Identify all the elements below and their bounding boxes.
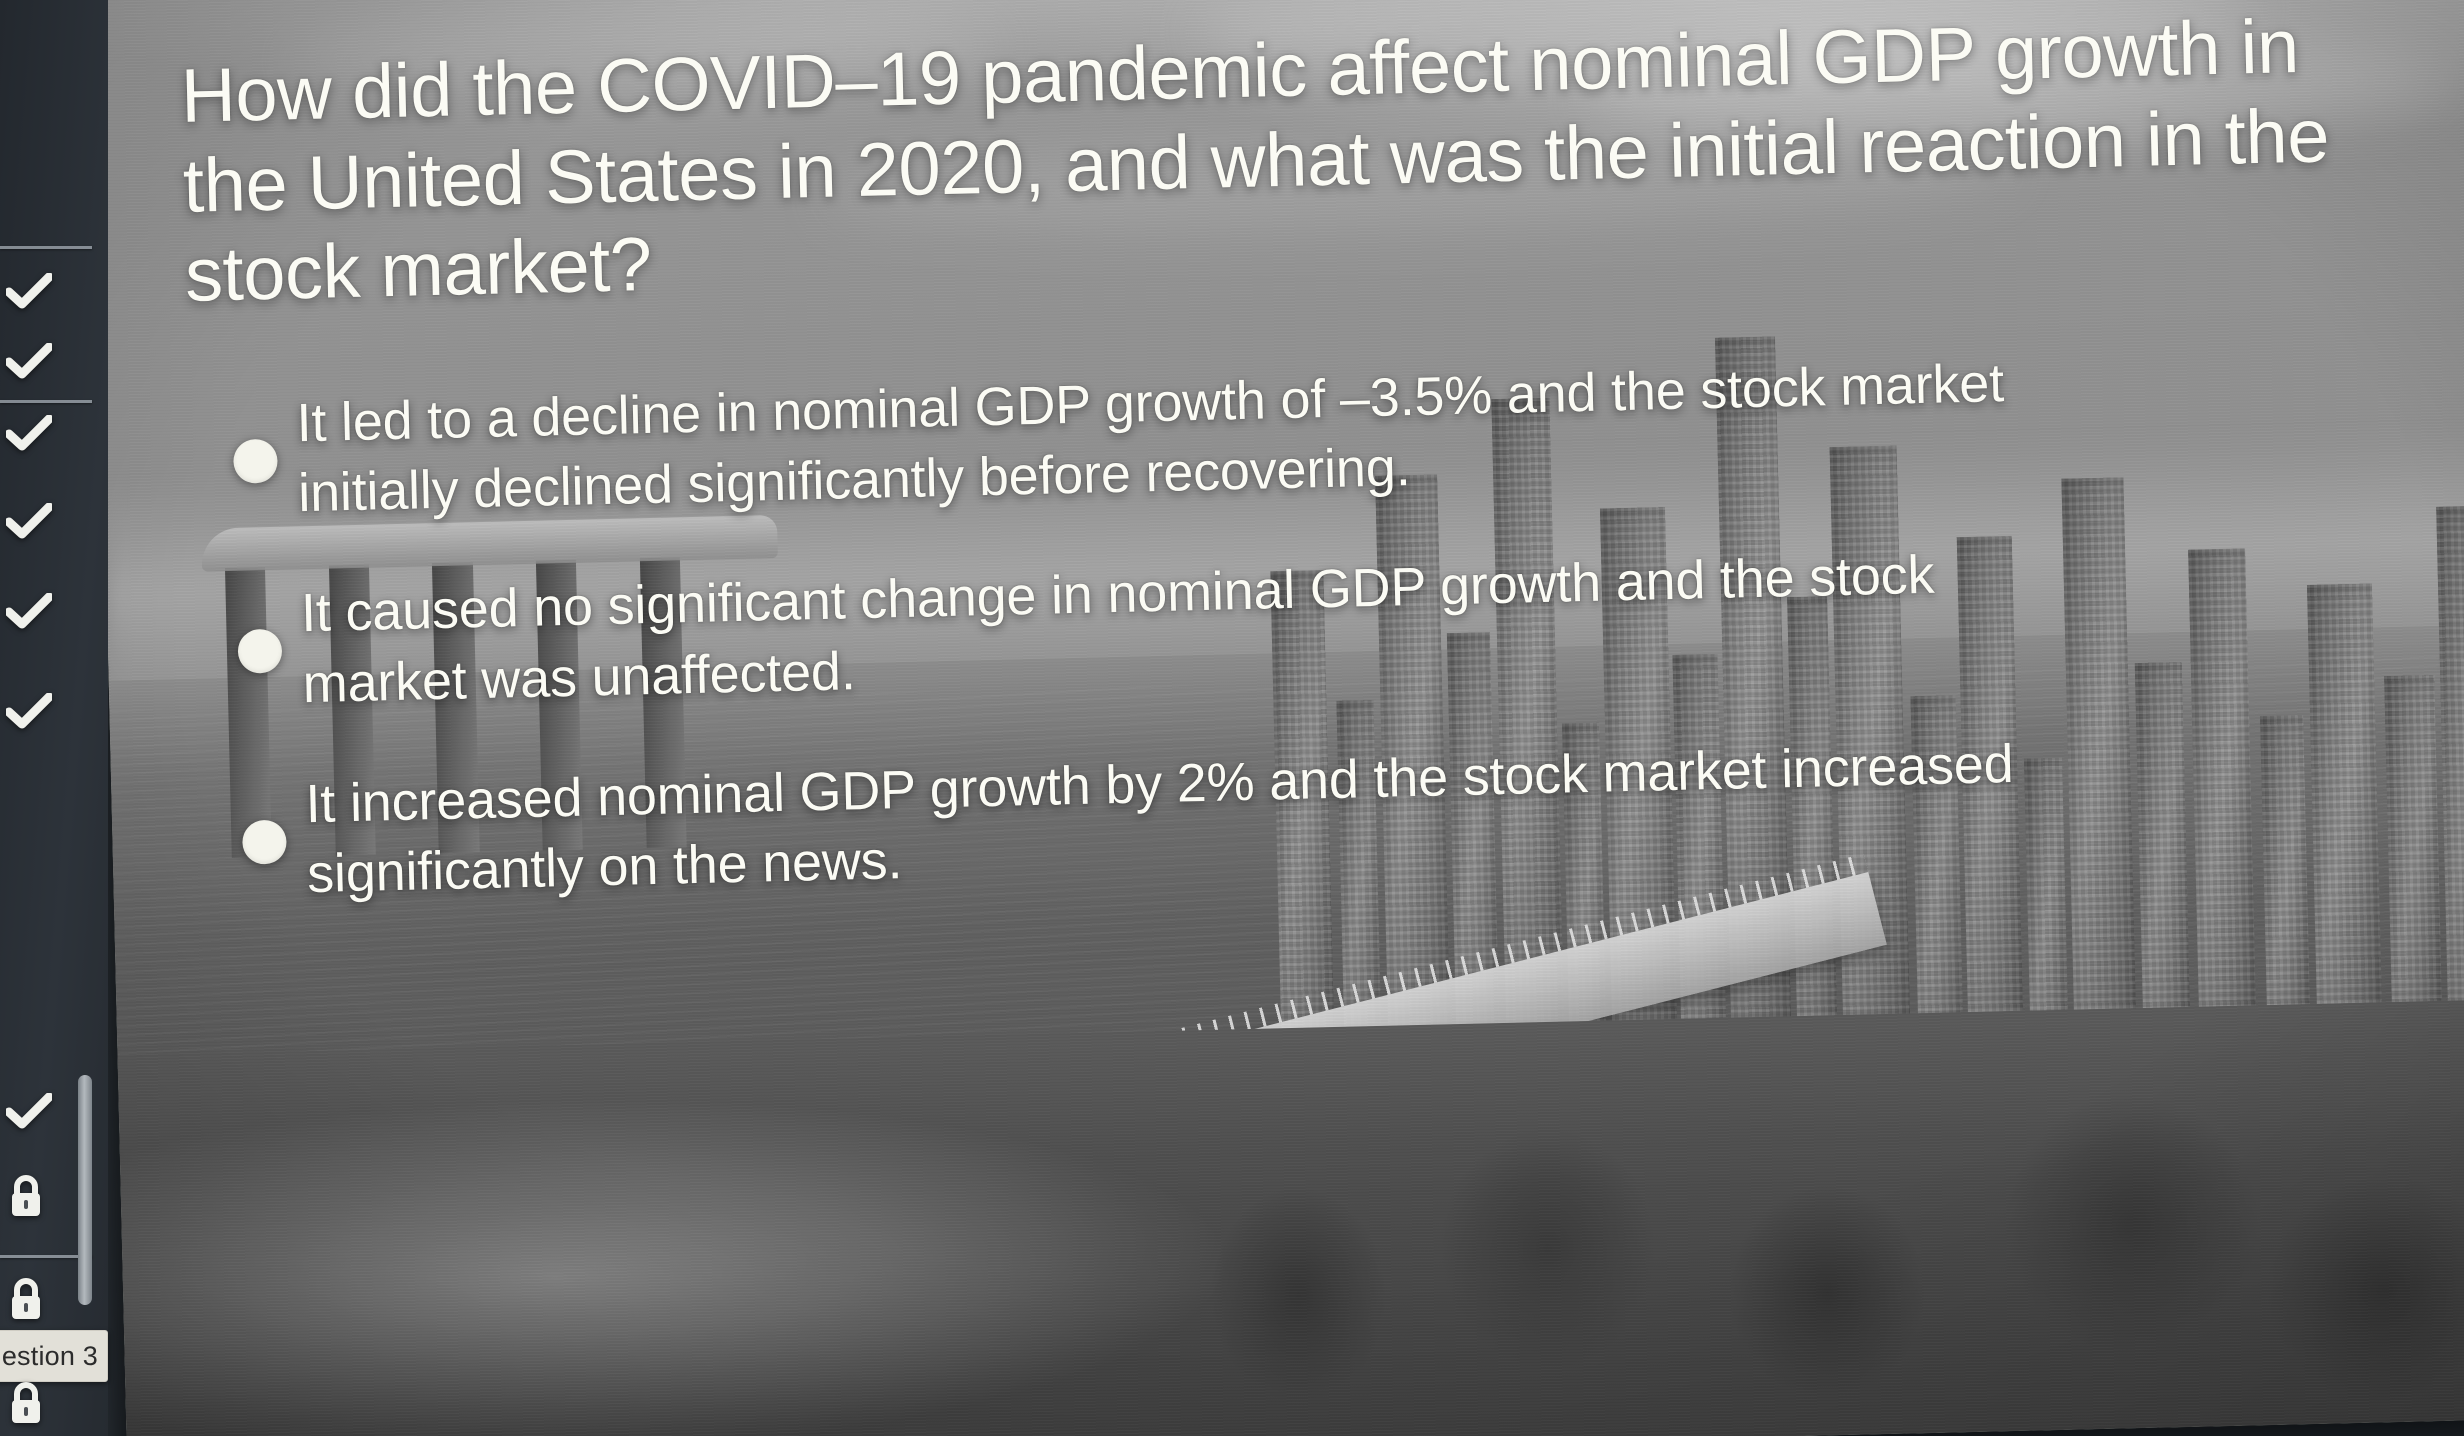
question-text: How did the COVID–19 pandemic affect nom… — [180, 1, 2366, 321]
lock-icon — [6, 1277, 46, 1323]
answer-option-b-label: It caused no significant change in nomin… — [300, 537, 2063, 719]
screen-photo: How did the COVID–19 pandemic affect nom… — [0, 0, 2464, 1436]
presentation-slide[interactable]: How did the COVID–19 pandemic affect nom… — [92, 0, 2464, 1436]
rail-divider-1 — [0, 246, 92, 249]
rail-divider-2 — [0, 400, 92, 403]
check-icon — [6, 1093, 52, 1131]
check-icon — [6, 593, 52, 631]
question-navigator-rail[interactable]: estion 3 — [0, 0, 108, 1436]
question-tooltip: estion 3 — [0, 1330, 108, 1382]
answer-option-c[interactable]: It increased nominal GDP growth by 2% an… — [241, 723, 2428, 911]
rail-scrollbar[interactable] — [78, 1075, 92, 1305]
check-icon — [6, 503, 52, 541]
check-icon — [6, 343, 52, 381]
nav-item-question-10[interactable] — [0, 1382, 100, 1426]
lock-icon — [6, 1381, 46, 1427]
check-icon — [6, 273, 52, 311]
radio-button-icon-a[interactable] — [233, 439, 278, 484]
answer-options-list: It led to a decline in nominal GDP growt… — [188, 342, 2428, 911]
answer-option-b[interactable]: It caused no significant change in nomin… — [236, 533, 2423, 721]
answer-option-a-label: It led to a decline in nominal GDP growt… — [296, 347, 2059, 529]
answer-option-a[interactable]: It led to a decline in nominal GDP growt… — [232, 342, 2419, 530]
nav-item-question-3[interactable] — [0, 412, 100, 456]
nav-item-question-5[interactable] — [0, 590, 100, 634]
nav-item-question-4[interactable] — [0, 500, 100, 544]
radio-button-icon-b[interactable] — [237, 629, 282, 674]
check-icon — [6, 415, 52, 453]
answer-option-c-label: It increased nominal GDP growth by 2% an… — [305, 728, 2068, 910]
nav-item-question-6[interactable] — [0, 690, 100, 734]
nav-item-question-1[interactable] — [0, 270, 100, 314]
radio-button-icon-c[interactable] — [242, 819, 287, 864]
nav-item-question-2[interactable] — [0, 340, 100, 384]
check-icon — [6, 693, 52, 731]
lock-icon — [6, 1174, 46, 1220]
